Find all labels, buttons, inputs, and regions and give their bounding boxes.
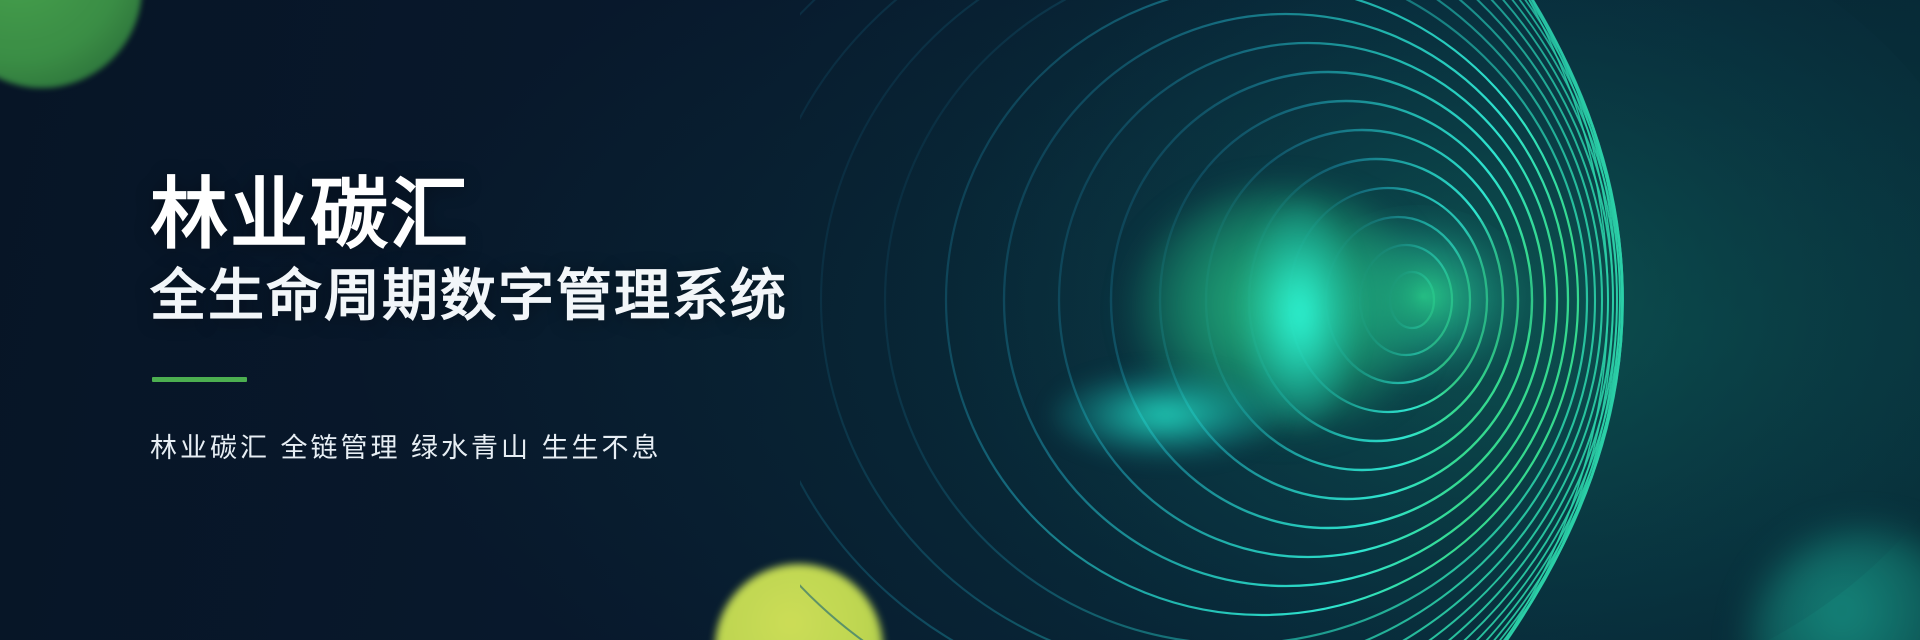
- accent-divider: [152, 377, 247, 382]
- banner-tagline: 林业碳汇 全链管理 绿水青山 生生不息: [150, 426, 788, 465]
- banner-content: 林业碳汇 全生命周期数字管理系统 林业碳汇 全链管理 绿水青山 生生不息: [150, 0, 788, 640]
- page-subtitle: 全生命周期数字管理系统: [150, 267, 788, 326]
- vortex-cyan-lower-glow-icon: [1050, 370, 1280, 460]
- ring-vortex-graphic: [800, 0, 1920, 640]
- hero-banner: 林业碳汇 全生命周期数字管理系统 林业碳汇 全链管理 绿水青山 生生不息: [0, 0, 1920, 640]
- page-title: 林业碳汇: [150, 175, 788, 253]
